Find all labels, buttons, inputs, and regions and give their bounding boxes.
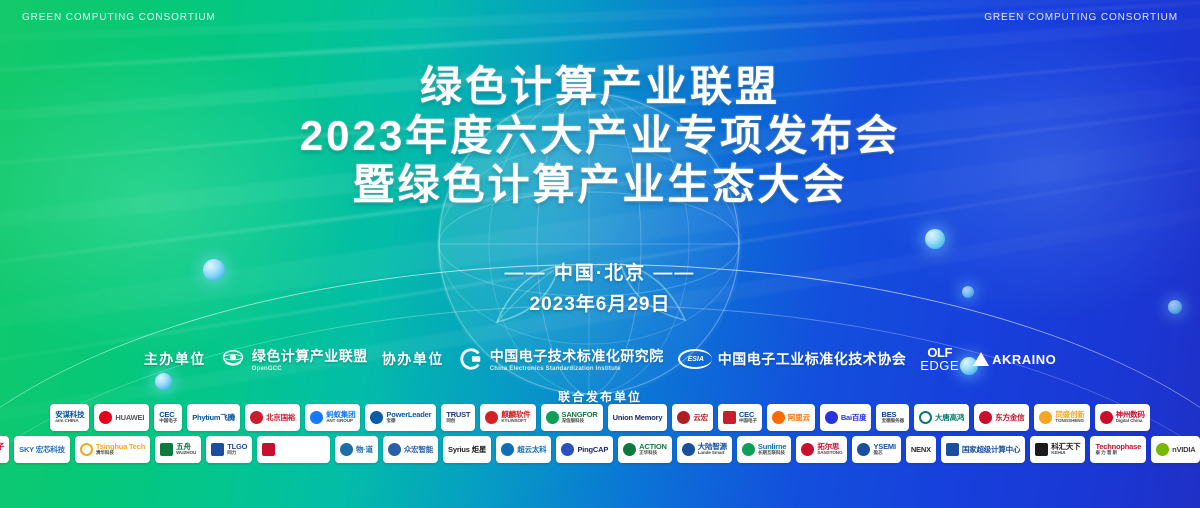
mtn2-icon — [682, 443, 695, 456]
sponsor-name-en: KYLINSOFT — [501, 419, 530, 424]
petal-icon — [99, 411, 112, 424]
blue-icon — [946, 443, 959, 456]
sponsor-logo-chip[interactable]: Syrius 炬星 — [443, 436, 491, 463]
co-host-label: 协办单位 — [382, 349, 444, 369]
sponsor-name-en: 盈芯 — [873, 451, 895, 456]
sponsor-logo-text: 物·道 — [356, 446, 373, 454]
sponsor-logo-chip[interactable]: PingCAP — [556, 436, 613, 463]
esia-name-cn: 中国电子工业标准化技术协会 — [718, 349, 907, 369]
cesi-logo-icon — [458, 346, 484, 372]
sponsor-logo-chip[interactable]: 国家超级计算中心 — [941, 436, 1025, 463]
sponsor-logo-text: Sunlirne长期互联科技 — [758, 443, 786, 456]
sponsor-logo-chip[interactable]: HUAYUN 华云 — [257, 436, 330, 463]
y-icon — [857, 443, 870, 456]
bar-icon — [723, 411, 736, 424]
sponsor-logo-chip[interactable]: 大普微电子Great Wall — [0, 436, 9, 463]
sponsor-logo-chip[interactable]: 云宏 — [672, 404, 713, 431]
sponsor-name-cn: Bai百度 — [841, 414, 867, 422]
title-block: 绿色计算产业联盟 2023年度六大产业专项发布会 暨绿色计算产业生态大会 — [0, 62, 1200, 209]
sponsor-logo-text: 麒麟软件KYLINSOFT — [501, 411, 530, 424]
eye-icon — [1156, 443, 1169, 456]
cesi-name-cn: 中国电子技术标准化研究院 — [490, 348, 664, 364]
sponsor-name-en: 宝德 — [386, 419, 431, 424]
sponsor-logo-chip[interactable]: Bai百度 — [820, 404, 872, 431]
sponsor-logo-text: 同盛创新TONGSHENG — [1055, 411, 1084, 424]
sponsor-name-cn: Syrius 炬星 — [448, 446, 486, 454]
sponsor-logo-chip[interactable]: NENX — [906, 436, 936, 463]
sponsor-logo-text: NENX — [911, 446, 931, 454]
host-label: 主办单位 — [144, 349, 206, 369]
opengcc-wordmark: OpenGCC — [252, 366, 368, 372]
sponsor-logo-text: 国家超级计算中心 — [962, 446, 1020, 454]
sponsor-logo-chip[interactable]: 物·道 — [335, 436, 378, 463]
corner-label-right: GREEN COMPUTING CONSORTIUM — [984, 12, 1178, 23]
sponsor-logo-chip[interactable]: PowerLeader宝德 — [365, 404, 436, 431]
sponsor-logo-text: Tsinghua Tech清华科技 — [96, 443, 145, 456]
sponsor-logo-chip[interactable]: 神州数码Digital China — [1095, 404, 1150, 431]
sponsor-logo-text: PingCAP — [577, 446, 608, 454]
sponsor-name-cn: 超云太科 — [517, 446, 546, 454]
sponsor-logo-text: 五舟WUZHOU — [176, 443, 196, 456]
sponsor-logo-chip[interactable]: 大陆智源Lande Smart — [677, 436, 732, 463]
sponsor-name-cn: 大普微电子 — [0, 443, 4, 451]
sponsor-name-en: 中国电子 — [159, 419, 177, 424]
sponsor-name-en: Digital China — [1116, 419, 1145, 424]
sponsor-name-cn: 东方金信 — [995, 414, 1024, 422]
sponsor-name-en: 正华科技 — [639, 451, 667, 456]
akraino-name: AKRAINO — [992, 352, 1056, 367]
sponsor-name-en: TONGSHENG — [1055, 419, 1084, 424]
sponsor-logo-text: SANGFOR深信服科技 — [562, 411, 598, 424]
organizer-row: 主办单位 绿色计算产业联盟 OpenGCC 协办单位 — [0, 346, 1200, 372]
sponsor-name-en: 同力 — [227, 451, 247, 456]
sponsor-name-cn: 云宏 — [693, 414, 708, 422]
sponsor-name-en: 长期互联科技 — [758, 451, 786, 456]
sponsor-logo-text: Bai百度 — [841, 414, 867, 422]
title-line-1: 绿色计算产业联盟 — [0, 62, 1200, 111]
logo-row: 安谋科技arm CHINAHUAWEICEC中国电子Phytium飞腾北京国裕蚂… — [50, 404, 1150, 431]
co-host-esia: ESIA 中国电子工业标准化技术协会 — [678, 349, 907, 369]
sponsor-logo-text: HUAYUN 华云 — [278, 446, 325, 454]
sponsor-name-cn: HUAYUN 华云 — [278, 446, 325, 454]
sponsor-logo-chip[interactable]: CEC中国电子 — [718, 404, 762, 431]
ant-icon — [310, 411, 323, 424]
sponsor-name-en: KEHUI — [1051, 451, 1080, 456]
leaf-icon — [742, 443, 755, 456]
subtitle-date: 2023年6月29日 — [0, 289, 1200, 316]
sponsor-logo-text: 蚂蚁集团ANT GROUP — [326, 411, 355, 424]
sponsor-logo-chip[interactable]: 安谋科技arm CHINA — [50, 404, 89, 431]
sponsor-logo-chip[interactable]: 超云太科 — [496, 436, 551, 463]
sponsor-name-en: 清华科技 — [96, 451, 145, 456]
p-icon — [370, 411, 383, 424]
sponsor-logo-text: HUAWEI — [115, 414, 144, 422]
esia-logo-icon: ESIA — [678, 349, 712, 369]
sponsor-logo-text: 安谋科技arm CHINA — [55, 411, 84, 424]
sponsor-logo-text: 大唐高鸿 — [935, 414, 964, 422]
host-entry: 绿色计算产业联盟 OpenGCC — [220, 346, 368, 372]
sponsor-logo-text: 科汇天下KEHUI — [1051, 443, 1080, 456]
sponsor-logo-chip[interactable]: 拓尔思SANSTONG — [796, 436, 847, 463]
sponsor-logo-text: PowerLeader宝德 — [386, 411, 431, 424]
host-name: 绿色计算产业联盟 — [252, 348, 368, 364]
sponsor-logo-chip[interactable]: Tsinghua Tech清华科技 — [75, 436, 150, 463]
joint-publishers-grid: 安谋科技arm CHINAHUAWEICEC中国电子Phytium飞腾北京国裕蚂… — [0, 404, 1200, 463]
sq5-icon — [160, 443, 173, 456]
sponsor-logo-text: 大陆智源Lande Smart — [698, 443, 727, 456]
sponsor-logo-chip[interactable]: 东方金信 — [974, 404, 1029, 431]
sponsor-name-en: 泰 力 普 斯 — [1095, 451, 1141, 456]
title-line-3: 暨绿色计算产业生态大会 — [0, 160, 1200, 209]
sponsor-logo-chip[interactable]: TLGO同力 — [206, 436, 252, 463]
sponsor-name-en: 深信服科技 — [562, 419, 598, 424]
bldg-icon — [211, 443, 224, 456]
opengcc-logo-icon — [220, 346, 246, 372]
rose-icon — [801, 443, 814, 456]
decorative-sphere — [925, 229, 945, 249]
subtitle-block: —— 中国·北京 —— 2023年6月29日 — [0, 258, 1200, 316]
sponsor-logo-text: 北京国裕 — [266, 414, 295, 422]
bottom-fade — [0, 474, 1200, 508]
sponsor-logo-chip[interactable]: Union Memory — [608, 404, 668, 431]
mtn-icon — [677, 411, 690, 424]
sponsor-name-en: WUZHOU — [176, 451, 196, 456]
sponsor-logo-text: Phytium飞腾 — [192, 414, 235, 422]
kk-icon — [1035, 443, 1048, 456]
joint-publishers-label: 联合发布单位 — [0, 388, 1200, 405]
sponsor-name-en: arm CHINA — [55, 419, 84, 424]
pc-icon — [561, 443, 574, 456]
sponsor-logo-text: Technophase泰 力 普 斯 — [1095, 443, 1141, 456]
sponsor-logo-chip[interactable]: 众宏智能 — [383, 436, 438, 463]
sponsor-logo-text: ACTION正华科技 — [639, 443, 667, 456]
sponsor-logo-chip[interactable]: nVIDIA — [1151, 436, 1200, 463]
sponsor-logo-chip[interactable]: 大唐高鸿 — [914, 404, 969, 431]
sponsor-logo-chip[interactable]: YSEMI盈芯 — [852, 436, 900, 463]
sponsor-logo-text: 东方金信 — [995, 414, 1024, 422]
sponsor-name-cn: NENX — [911, 446, 931, 454]
corner-label-left: GREEN COMPUTING CONSORTIUM — [22, 12, 216, 23]
sponsor-logo-text: BES宝德服务器 — [881, 411, 903, 424]
sponsor-logo-text: 大普微电子Great Wall — [0, 443, 4, 456]
sponsor-name-en: 中国电子 — [739, 419, 757, 424]
swirl-icon — [1100, 411, 1113, 424]
sponsor-name-en: ANT GROUP — [326, 419, 355, 424]
sponsor-logo-text: 阿里云 — [788, 414, 810, 422]
sponsor-logo-text: TRUST同创 — [446, 411, 470, 424]
sponsor-logo-chip[interactable]: 麒麟软件KYLINSOFT — [480, 404, 535, 431]
sponsor-logo-chip[interactable]: ACTION正华科技 — [618, 436, 672, 463]
sponsor-logo-chip[interactable]: BES宝德服务器 — [876, 404, 908, 431]
gear-icon — [623, 443, 636, 456]
globe-icon — [546, 411, 559, 424]
olf-edge-logo-icon: OLF EDGE — [920, 346, 959, 372]
sponsor-logo-text: SKY 宏芯科技 — [19, 446, 65, 454]
sponsor-logo-chip[interactable]: 五舟WUZHOU — [155, 436, 201, 463]
sponsor-name-cn: PingCAP — [577, 446, 608, 454]
sponsor-logo-chip[interactable]: 同盛创新TONGSHENG — [1034, 404, 1089, 431]
sponsor-name-cn: 国家超级计算中心 — [962, 446, 1020, 454]
sponsor-logo-text: YSEMI盈芯 — [873, 443, 895, 456]
partner-akraino: AKRAINO — [973, 352, 1056, 367]
sponsor-logo-chip[interactable]: 蚂蚁集团ANT GROUP — [305, 404, 360, 431]
cloud-icon — [772, 411, 785, 424]
sponsor-logo-text: TLGO同力 — [227, 443, 247, 456]
sponsor-logo-chip[interactable]: Technophase泰 力 普 斯 — [1090, 436, 1146, 463]
sponsor-logo-text: Syrius 炬星 — [448, 446, 486, 454]
olf-line-2: EDGE — [920, 359, 959, 372]
paw-icon — [825, 411, 838, 424]
dot-icon — [979, 411, 992, 424]
sponsor-name-cn: HUAWEI — [115, 414, 144, 422]
title-line-2: 2023年度六大产业专项发布会 — [0, 111, 1200, 160]
sponsor-name-en: SANSTONG — [817, 451, 842, 456]
sponsor-name-cn: 北京国裕 — [266, 414, 295, 422]
ring-icon — [919, 411, 932, 424]
akraino-triangle-icon — [973, 352, 989, 366]
sponsor-name-cn: 物·道 — [356, 446, 373, 454]
sponsor-logo-chip[interactable]: 阿里云 — [767, 404, 815, 431]
sponsor-logo-chip[interactable]: TRUST同创 — [441, 404, 475, 431]
partner-olf-edge: OLF EDGE — [920, 346, 959, 372]
sponsor-logo-text: 云宏 — [693, 414, 708, 422]
sponsor-logo-chip[interactable]: SANGFOR深信服科技 — [541, 404, 603, 431]
sponsor-logo-chip[interactable]: Phytium飞腾 — [187, 404, 240, 431]
tri-icon — [388, 443, 401, 456]
co-host-cesi: 中国电子技术标准化研究院 China Electronics Standardi… — [458, 346, 664, 372]
cy-icon — [501, 443, 514, 456]
sponsor-name-cn: 大唐高鸿 — [935, 414, 964, 422]
flag-icon — [250, 411, 263, 424]
conference-banner: GREEN COMPUTING CONSORTIUM GREEN COMPUTI… — [0, 0, 1200, 508]
star-icon — [1039, 411, 1052, 424]
logo-row: 大普微电子Great WallSKY 宏芯科技Tsinghua Tech清华科技… — [0, 436, 1200, 463]
sponsor-logo-chip[interactable]: 科汇天下KEHUI — [1030, 436, 1085, 463]
sponsor-logo-text: nVIDIA — [1172, 446, 1195, 454]
sponsor-logo-text: 神州数码Digital China — [1116, 411, 1145, 424]
sponsor-logo-chip[interactable]: CEC中国电子 — [154, 404, 182, 431]
sponsor-logo-text: 拓尔思SANSTONG — [817, 443, 842, 456]
sponsor-name-cn: Union Memory — [613, 414, 663, 422]
sponsor-logo-text: 众宏智能 — [404, 446, 433, 454]
sponsor-name-en: Great Wall — [0, 451, 4, 456]
sponsor-logo-text: 超云太科 — [517, 446, 546, 454]
sponsor-name-en: 宝德服务器 — [881, 419, 903, 424]
ring2-icon — [80, 443, 93, 456]
sponsor-name-cn: 阿里云 — [788, 414, 810, 422]
sponsor-name-cn: 众宏智能 — [404, 446, 433, 454]
cesi-name-en: China Electronics Standardization Instit… — [490, 366, 664, 372]
sponsor-logo-text: CEC中国电子 — [739, 411, 757, 424]
sponsor-name-en: Lande Smart — [698, 451, 727, 456]
redbox-icon — [262, 443, 275, 456]
face-icon — [340, 443, 353, 456]
sponsor-logo-chip[interactable]: Sunlirne长期互联科技 — [737, 436, 791, 463]
sponsor-logo-text: CEC中国电子 — [159, 411, 177, 424]
k-icon — [485, 411, 498, 424]
sponsor-logo-text: Union Memory — [613, 414, 663, 422]
sponsor-name-cn: SKY 宏芯科技 — [19, 446, 65, 454]
sponsor-logo-chip[interactable]: HUAWEI — [94, 404, 149, 431]
sponsor-name-en: 同创 — [446, 419, 470, 424]
sponsor-logo-chip[interactable]: 北京国裕 — [245, 404, 300, 431]
sponsor-logo-chip[interactable]: SKY 宏芯科技 — [14, 436, 70, 463]
sponsor-name-cn: Phytium飞腾 — [192, 414, 235, 422]
sponsor-name-cn: nVIDIA — [1172, 446, 1195, 454]
subtitle-city: —— 中国·北京 —— — [0, 258, 1200, 285]
